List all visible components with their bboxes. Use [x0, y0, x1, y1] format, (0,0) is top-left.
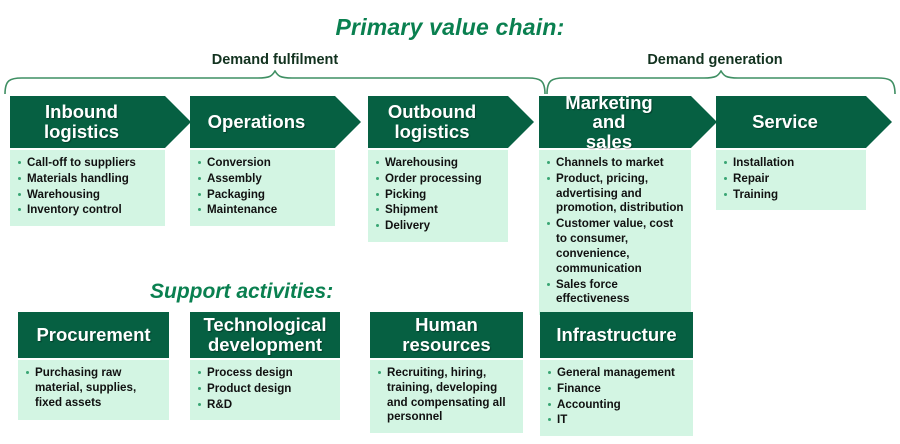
list-item: Purchasing raw material, supplies, fixed… — [25, 366, 163, 410]
bullet-panel-infrastructure: General management Finance Accounting IT — [540, 360, 693, 436]
chevron-title-line1: Marketing and — [565, 92, 652, 133]
list-item: Maintenance — [197, 203, 329, 218]
group-label-demand-fulfilment: Demand fulfilment — [145, 52, 405, 68]
chevron-label: Operations — [208, 112, 306, 132]
value-chain-stage-outbound-logistics[interactable]: Outbound logistics Warehousing Order pro… — [368, 96, 508, 242]
support-header-label: Human resources — [402, 315, 490, 354]
value-chain-stage-service[interactable]: Service Installation Repair Training — [716, 96, 866, 210]
bullet-panel-technological-development: Process design Product design R&D — [190, 360, 340, 420]
support-header-label: Technological development — [203, 315, 326, 354]
bullet-list: Purchasing raw material, supplies, fixed… — [25, 366, 163, 410]
list-item: Order processing — [375, 172, 502, 187]
chevron-title-line1: Operations — [208, 111, 306, 132]
list-item: Warehousing — [17, 188, 159, 203]
list-item: Materials handling — [17, 172, 159, 187]
bullet-list: Installation Repair Training — [723, 156, 860, 202]
value-chain-diagram: Primary value chain: Demand fulfilment D… — [0, 0, 900, 444]
group-label-demand-generation: Demand generation — [590, 52, 840, 68]
list-item: Accounting — [547, 398, 687, 413]
chevron-label: Marketing and sales — [549, 93, 669, 152]
bullet-list: Call-off to suppliers Materials handling… — [17, 156, 159, 218]
list-item: Finance — [547, 382, 687, 397]
bullet-list: Recruiting, hiring, training, developing… — [377, 366, 517, 425]
value-chain-stage-inbound-logistics[interactable]: Inbound logistics Call-off to suppliers … — [10, 96, 165, 226]
list-item: Conversion — [197, 156, 329, 171]
chevron-title-line1: Service — [752, 111, 818, 132]
list-item: Repair — [723, 172, 860, 187]
list-item: Packaging — [197, 188, 329, 203]
list-item: Assembly — [197, 172, 329, 187]
support-activity-technological-development[interactable]: Technological development Process design… — [190, 312, 340, 420]
chevron-inbound-logistics[interactable]: Inbound logistics — [10, 96, 165, 148]
support-activities-title: Support activities: — [150, 280, 333, 304]
list-item: R&D — [197, 398, 334, 413]
list-item: Picking — [375, 188, 502, 203]
support-header-label: Procurement — [36, 325, 150, 345]
chevron-label: Service — [752, 112, 818, 132]
support-title-line1: Human — [415, 314, 478, 335]
chevron-title-line2: sales — [586, 131, 632, 152]
list-item: Inventory control — [17, 203, 159, 218]
bullet-list: Channels to market Product, pricing, adv… — [546, 156, 685, 307]
list-item: Training — [723, 188, 860, 203]
support-header-procurement[interactable]: Procurement — [18, 312, 169, 358]
support-title-line1: Infrastructure — [556, 324, 676, 345]
support-activity-human-resources[interactable]: Human resources Recruiting, hiring, trai… — [370, 312, 523, 433]
list-item: Call-off to suppliers — [17, 156, 159, 171]
bullet-list: Conversion Assembly Packaging Maintenanc… — [197, 156, 329, 218]
chevron-marketing-and-sales[interactable]: Marketing and sales — [539, 96, 691, 148]
value-chain-stage-marketing-and-sales[interactable]: Marketing and sales Channels to market P… — [539, 96, 691, 315]
bullet-panel-operations: Conversion Assembly Packaging Maintenanc… — [190, 150, 335, 226]
bullet-list: General management Finance Accounting IT — [547, 366, 687, 428]
bullet-panel-service: Installation Repair Training — [716, 150, 866, 210]
support-title-line2: development — [208, 334, 322, 355]
support-header-label: Infrastructure — [556, 325, 676, 345]
list-item: Recruiting, hiring, training, developing… — [377, 366, 517, 425]
list-item: Process design — [197, 366, 334, 381]
list-item: Channels to market — [546, 156, 685, 171]
support-header-infrastructure[interactable]: Infrastructure — [540, 312, 693, 358]
chevron-label: Outbound logistics — [388, 102, 476, 141]
bullet-panel-outbound-logistics: Warehousing Order processing Picking Shi… — [368, 150, 508, 242]
brace-demand-generation — [546, 70, 896, 94]
chevron-title-line1: Outbound — [388, 101, 476, 122]
bullet-list: Process design Product design R&D — [197, 366, 334, 412]
value-chain-stage-operations[interactable]: Operations Conversion Assembly Packaging… — [190, 96, 335, 226]
support-activity-procurement[interactable]: Procurement Purchasing raw material, sup… — [18, 312, 169, 420]
chevron-label: Inbound logistics — [44, 102, 119, 141]
chevron-operations[interactable]: Operations — [190, 96, 335, 148]
chevron-title-line2: logistics — [394, 121, 469, 142]
primary-value-chain-title: Primary value chain: — [0, 14, 900, 41]
bullet-panel-marketing-and-sales: Channels to market Product, pricing, adv… — [539, 150, 691, 315]
chevron-service[interactable]: Service — [716, 96, 866, 148]
chevron-title-line1: Inbound — [45, 101, 118, 122]
bullet-panel-inbound-logistics: Call-off to suppliers Materials handling… — [10, 150, 165, 226]
chevron-title-line2: logistics — [44, 121, 119, 142]
list-item: Product, pricing, advertising and promot… — [546, 172, 685, 216]
support-title-line1: Technological — [203, 314, 326, 335]
list-item: IT — [547, 413, 687, 428]
support-title-line1: Procurement — [36, 324, 150, 345]
list-item: Warehousing — [375, 156, 502, 171]
list-item: Installation — [723, 156, 860, 171]
support-header-technological-development[interactable]: Technological development — [190, 312, 340, 358]
bullet-panel-procurement: Purchasing raw material, supplies, fixed… — [18, 360, 169, 420]
list-item: Shipment — [375, 203, 502, 218]
list-item: Sales force effectiveness — [546, 278, 685, 308]
bullet-list: Warehousing Order processing Picking Shi… — [375, 156, 502, 234]
list-item: Customer value, cost to consumer, conven… — [546, 217, 685, 276]
support-header-human-resources[interactable]: Human resources — [370, 312, 523, 358]
list-item: General management — [547, 366, 687, 381]
chevron-outbound-logistics[interactable]: Outbound logistics — [368, 96, 508, 148]
support-activity-infrastructure[interactable]: Infrastructure General management Financ… — [540, 312, 693, 436]
brace-demand-fulfilment — [4, 70, 546, 94]
bullet-panel-human-resources: Recruiting, hiring, training, developing… — [370, 360, 523, 433]
list-item: Product design — [197, 382, 334, 397]
list-item: Delivery — [375, 219, 502, 234]
support-title-line2: resources — [402, 334, 490, 355]
